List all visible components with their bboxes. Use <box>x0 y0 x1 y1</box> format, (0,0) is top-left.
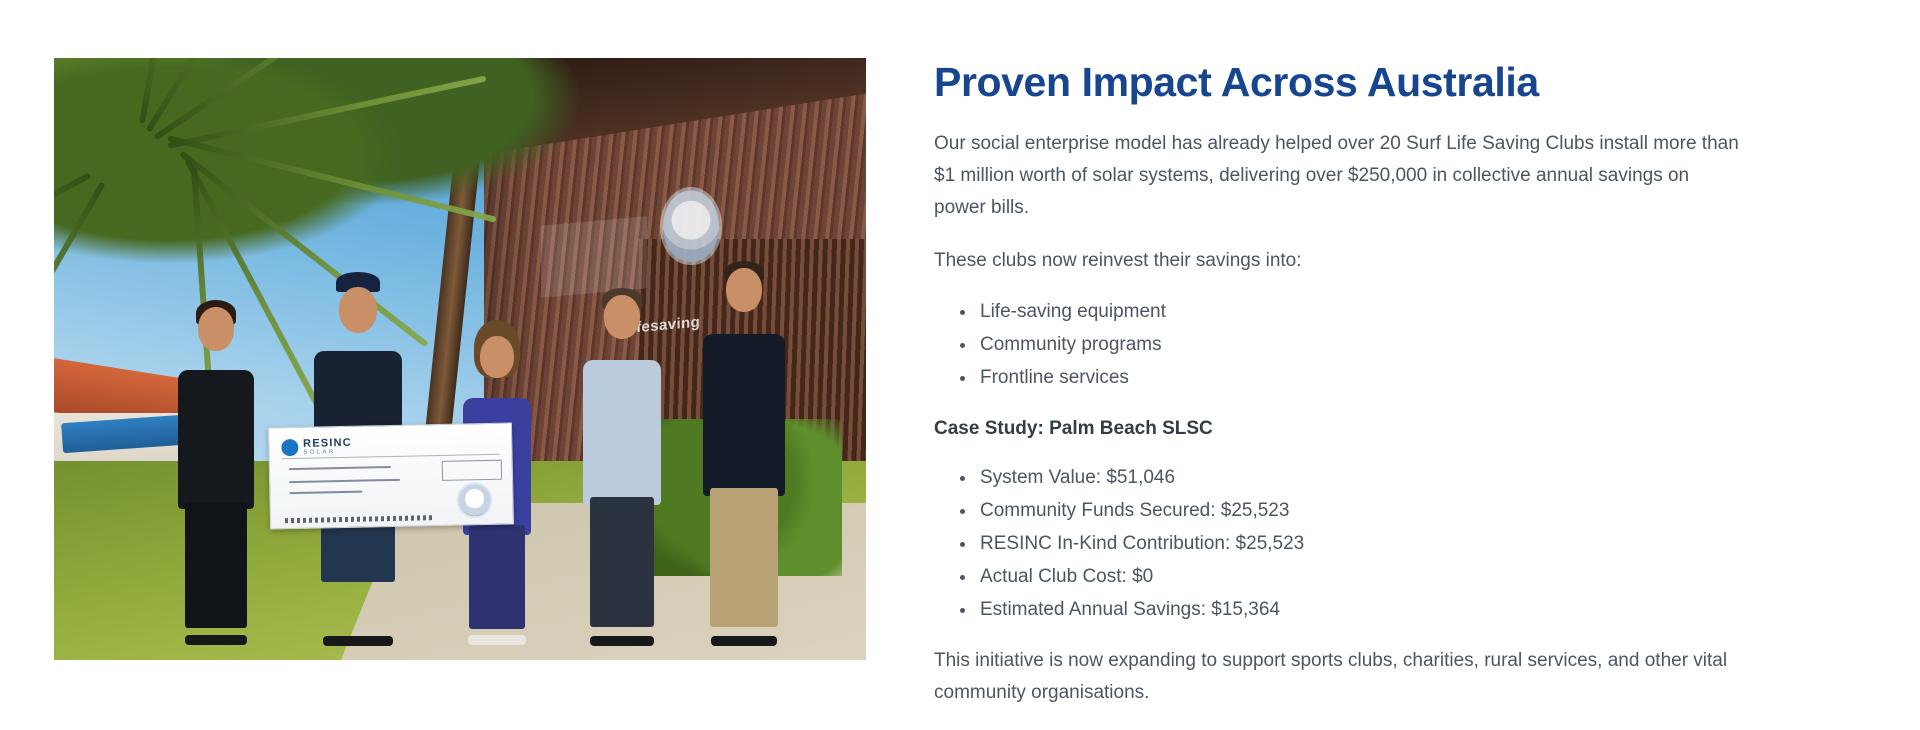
intro-paragraph: Our social enterprise model has already … <box>934 128 1740 224</box>
palm-frond <box>167 75 486 148</box>
cheque-amount-words-line <box>290 479 401 483</box>
cheque-brand: RESINC SOLAR <box>303 437 352 456</box>
club-crest-icon <box>457 482 494 519</box>
cheque-payee-line <box>289 466 390 470</box>
media-column: Lifesaving <box>0 58 866 660</box>
list-item: System Value: $51,046 <box>960 464 1740 493</box>
list-item: Community programs <box>960 331 1740 360</box>
reinvest-lead-paragraph: These clubs now reinvest their savings i… <box>934 245 1740 277</box>
list-item: Life-saving equipment <box>960 298 1740 327</box>
case-study-stats-list: System Value: $51,046 Community Funds Se… <box>934 464 1740 624</box>
resinc-logo-icon <box>281 439 298 456</box>
page-title: Proven Impact Across Australia <box>934 58 1740 106</box>
cheque-amount-box <box>441 460 502 481</box>
person-1 <box>160 293 274 642</box>
palm-frond <box>54 173 91 325</box>
oversized-presentation-cheque: RESINC SOLAR <box>268 423 514 530</box>
cheque-micr-line <box>286 516 436 524</box>
palm-frond <box>153 58 447 141</box>
person-5 <box>687 257 801 642</box>
cheque-amount-words-line-2 <box>290 491 362 495</box>
reinvest-list: Life-saving equipment Community programs… <box>934 298 1740 393</box>
list-item: Actual Club Cost: $0 <box>960 563 1740 592</box>
cheque-brand-name: RESINC <box>303 437 352 450</box>
surf-club-cheque-photo: Lifesaving <box>54 58 866 660</box>
list-item: Community Funds Secured: $25,523 <box>960 497 1740 526</box>
person-4 <box>566 281 680 642</box>
case-study-heading: Case Study: Palm Beach SLSC <box>934 414 1740 444</box>
list-item: Frontline services <box>960 364 1740 393</box>
list-item: Estimated Annual Savings: $15,364 <box>960 596 1740 625</box>
proven-impact-section: Lifesaving <box>0 0 1920 730</box>
surf-club-crest-icon <box>663 190 719 262</box>
list-item: RESINC In-Kind Contribution: $25,523 <box>960 530 1740 559</box>
cheque-brand-sub: SOLAR <box>303 449 352 456</box>
closing-paragraph: This initiative is now expanding to supp… <box>934 645 1740 709</box>
text-column: Proven Impact Across Australia Our socia… <box>866 58 1920 730</box>
